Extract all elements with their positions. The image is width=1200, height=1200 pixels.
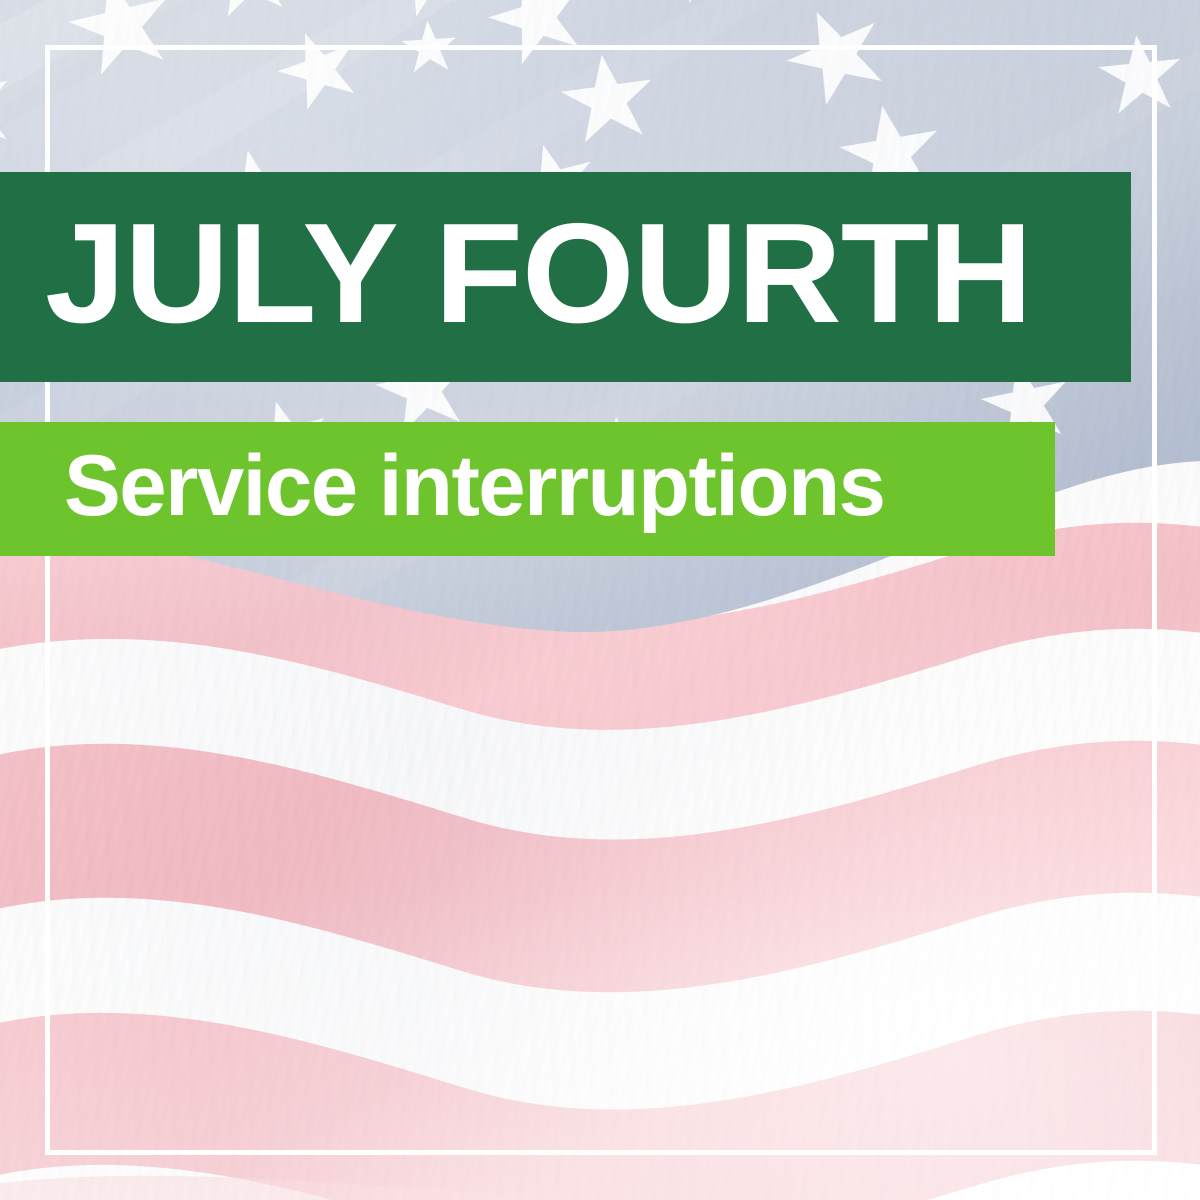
july-fourth-poster: JULY FOURTH Service interruptions bbox=[0, 0, 1200, 1200]
subtitle-text: Service interruptions bbox=[64, 451, 884, 527]
headline-text: JULY FOURTH bbox=[45, 217, 1032, 337]
subtitle-band: Service interruptions bbox=[0, 422, 1055, 556]
headline-band: JULY FOURTH bbox=[0, 172, 1131, 382]
